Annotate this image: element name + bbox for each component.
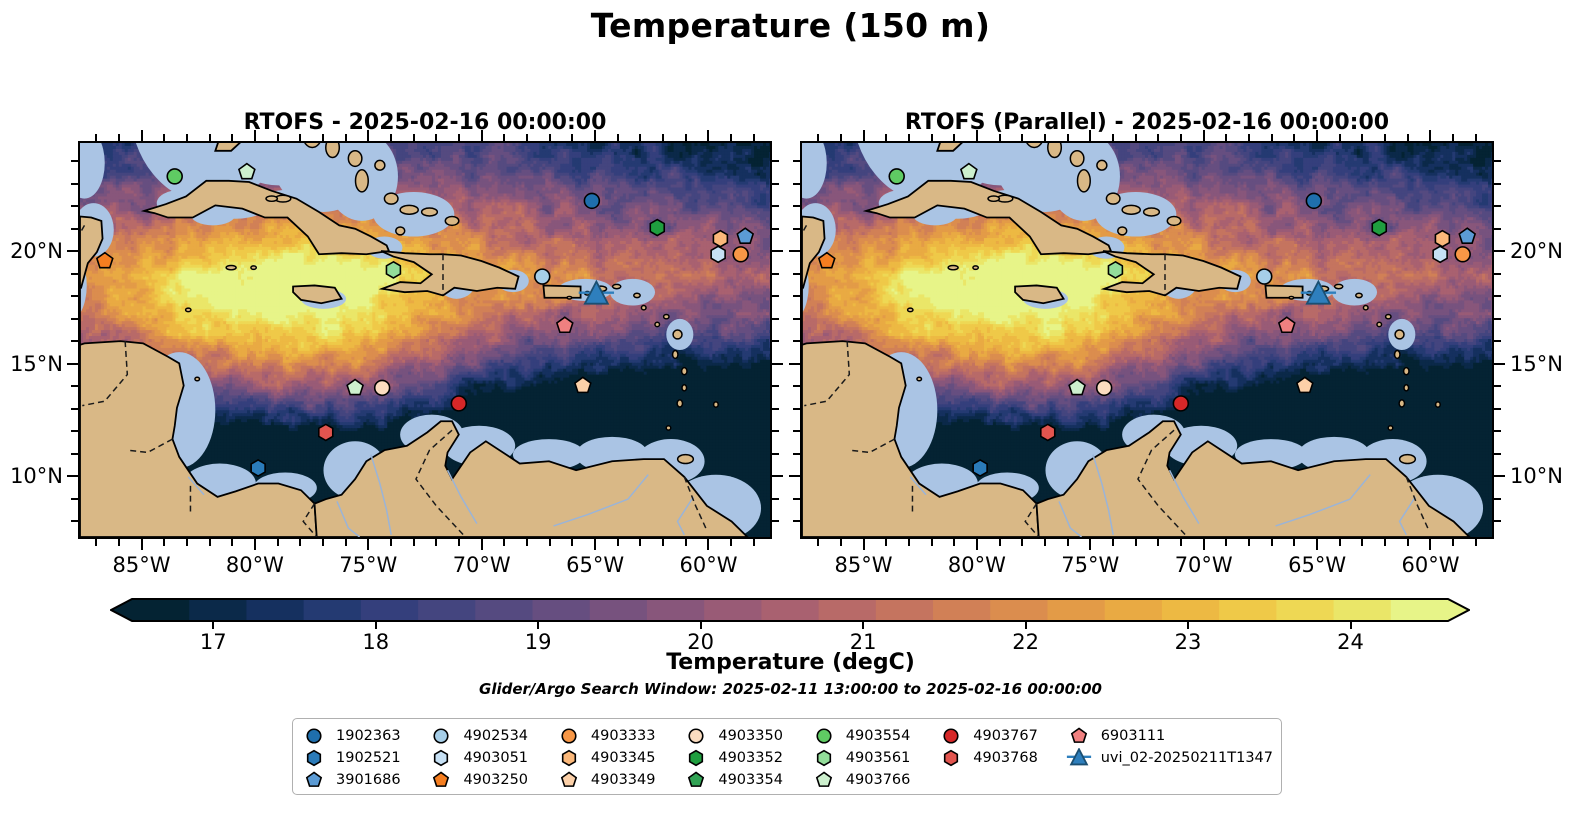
legend-label: 4903766 [846,772,911,788]
legend-label: 4903250 [463,772,528,788]
x-tick-top [908,134,910,141]
x-tick-top [1271,134,1273,141]
y-tick-left [71,520,78,522]
marker-circle[interactable] [1455,247,1470,262]
marker-hexagon[interactable] [1433,246,1447,262]
marker-hexagon[interactable] [713,231,727,247]
legend-item[interactable]: 4903561 [811,747,936,769]
legend-item[interactable]: 6903111 [1066,725,1273,747]
legend-marker-pentagon [556,770,582,790]
marker-pentagon[interactable] [1072,728,1086,742]
x-tick [1021,539,1023,546]
x-tick [1248,539,1250,546]
marker-circle[interactable] [817,729,831,743]
y-tick-left [793,273,800,275]
y-tick-left [71,295,78,297]
legend-label: 4903561 [846,750,911,766]
x-tick-top [458,134,460,141]
figure-root: Temperature (150 m) RTOFS - 2025-02-16 0… [0,0,1581,827]
y-tick-label: 20°N [1510,239,1563,263]
x-tick [817,539,819,546]
x-tick [186,539,188,546]
x-tick-top [277,134,279,141]
marker-circle[interactable] [1306,193,1321,208]
marker-circle[interactable] [535,269,550,284]
y-tick-left [793,318,800,320]
y-tick-right [1494,160,1501,162]
legend: 1902363490253449033334903350490355449037… [292,718,1282,795]
y-tick-left [793,183,800,185]
x-tick-top [503,134,505,141]
y-tick-left [793,385,800,387]
x-tick-top [1089,130,1091,141]
x-tick [1225,539,1227,546]
y-tick-left [71,340,78,342]
y-tick-left [793,205,800,207]
search-window-text: Glider/Argo Search Window: 2025-02-11 13… [0,680,1581,698]
legend-label: 4903345 [591,750,656,766]
x-tick-top [1135,134,1137,141]
x-tick [908,539,910,546]
x-tick-label: 65°W [1288,553,1346,577]
x-tick-top [413,134,415,141]
legend-item[interactable]: 4902534 [428,725,553,747]
y-tick-right [772,340,779,342]
y-tick-left [793,408,800,410]
x-tick-top [953,134,955,141]
x-tick [976,539,978,550]
x-tick [730,539,732,546]
x-tick-top [345,134,347,141]
legend-item[interactable]: 4903354 [683,769,808,791]
x-tick [1067,539,1069,546]
legend-item[interactable]: 4903352 [683,747,808,769]
legend-marker-hexagon [428,748,454,768]
x-tick [299,539,301,546]
x-tick [390,539,392,546]
marker-circle[interactable] [945,729,959,743]
y-tick-left [793,453,800,455]
x-tick-top [1044,134,1046,141]
legend-label: 4903554 [846,728,911,744]
marker-hexagon[interactable] [1435,231,1449,247]
y-tick-right [1494,363,1505,365]
y-tick-left [71,408,78,410]
y-tick-left [789,250,800,252]
marker-hexagon[interactable] [711,246,725,262]
x-tick-top [1452,134,1454,141]
marker-pentagon[interactable] [307,772,321,786]
y-tick-right [1494,475,1505,477]
x-tick [163,539,165,546]
y-tick-left [71,453,78,455]
y-tick-right [772,475,783,477]
legend-item[interactable]: 4903350 [683,725,808,747]
x-tick-top [1361,134,1363,141]
x-tick-top [817,134,819,141]
legend-marker-circle [301,726,327,746]
marker-circle[interactable] [562,729,576,743]
y-tick-label: 10°N [0,464,63,488]
x-tick-top [1293,134,1295,141]
marker-circle[interactable] [584,193,599,208]
y-tick-right [772,318,779,320]
x-tick-top [1384,134,1386,141]
y-tick-label: 20°N [0,239,63,263]
x-tick [571,539,573,546]
legend-marker-pentagon [1066,726,1092,746]
x-tick-top [435,134,437,141]
marker-hexagon[interactable] [1108,262,1122,278]
x-tick-top [1180,134,1182,141]
y-tick-right [1494,385,1501,387]
legend-marker-hexagon [938,748,964,768]
x-tick-top [1225,134,1227,141]
legend-item[interactable]: 4903766 [811,769,936,791]
x-tick [141,539,143,550]
y-tick-left [71,183,78,185]
legend-item[interactable]: 1902521 [301,747,426,769]
x-tick-top [1316,130,1318,141]
page-title: Temperature (150 m) [0,6,1581,45]
y-tick-left [71,318,78,320]
x-tick-top [95,134,97,141]
y-tick-left [71,273,78,275]
x-tick [1475,539,1477,546]
x-tick [863,539,865,550]
x-tick [1112,539,1114,546]
x-tick-top [594,130,596,141]
y-tick-left [793,228,800,230]
legend-item[interactable]: 4903333 [556,725,681,747]
y-tick-left [67,363,78,365]
marker-hexagon[interactable] [945,751,958,766]
y-tick-right [772,430,779,432]
y-tick-left [71,205,78,207]
x-tick-top [1157,134,1159,141]
legend-marker-circle [811,726,837,746]
x-tick [840,539,842,546]
y-tick-right [1494,340,1501,342]
x-tick-top [840,134,842,141]
x-tick [526,539,528,546]
x-tick [594,539,596,550]
y-tick-left [71,228,78,230]
legend-item[interactable]: 4903250 [428,769,553,791]
legend-marker-circle [683,726,709,746]
colorbar-tick [700,622,702,629]
x-tick-top [863,130,865,141]
x-tick [639,539,641,546]
y-tick-right [1494,183,1501,185]
y-tick-label: 10°N [1510,464,1563,488]
x-tick [1271,539,1273,546]
x-tick-label: 70°W [1175,553,1233,577]
y-tick-right [772,183,779,185]
legend-label: uvi_02-20250211T1347 [1101,750,1273,766]
marker-pentagon[interactable] [434,772,448,786]
x-tick-top [976,130,978,141]
legend-label: 4903350 [718,728,783,744]
x-tick [481,539,483,550]
x-tick-top [617,134,619,141]
marker-hexagon[interactable] [319,424,333,440]
marker-hexagon[interactable] [563,751,576,766]
x-tick [1407,539,1409,546]
marker-hexagon[interactable] [308,751,321,766]
map-canvas-left [80,143,770,537]
x-tick-top [526,134,528,141]
legend-item[interactable]: 4903349 [556,769,681,791]
panel-title-right: RTOFS (Parallel) - 2025-02-16 00:00:00 [800,110,1494,135]
legend-item[interactable]: 4903554 [811,725,936,747]
y-tick-left [793,160,800,162]
marker-hexagon[interactable] [690,751,703,766]
x-tick-label: 85°W [835,553,893,577]
marker-circle[interactable] [451,396,466,411]
colorbar-label: Temperature (degC) [0,650,1581,675]
x-tick-top [571,134,573,141]
x-tick-top [1339,134,1341,141]
x-tick-top [1203,130,1205,141]
x-tick [549,539,551,546]
legend-marker-circle [556,726,582,746]
marker-hexagon[interactable] [973,460,987,476]
x-tick [1339,539,1341,546]
x-tick-top [141,130,143,141]
y-tick-left [71,498,78,500]
y-tick-right [1494,273,1501,275]
marker-circle[interactable] [733,247,748,262]
legend-label: 4903354 [718,772,783,788]
y-tick-right [772,273,779,275]
legend-marker-pentagon [301,770,327,790]
y-tick-right [1494,498,1501,500]
x-tick-label: 85°W [113,553,171,577]
legend-item[interactable]: uvi_02-20250211T1347 [1066,747,1273,769]
marker-hexagon[interactable] [386,262,400,278]
x-tick-top [481,130,483,141]
legend-marker-pentagon [683,770,709,790]
y-tick-right [1494,453,1501,455]
x-tick-label: 60°W [1401,553,1459,577]
x-tick [1157,539,1159,546]
y-tick-right [1494,430,1501,432]
x-tick [1180,539,1182,546]
marker-hexagon[interactable] [1041,424,1055,440]
x-tick [345,539,347,546]
marker-hexagon[interactable] [251,460,265,476]
x-tick-top [322,134,324,141]
legend-grid: 1902363490253449033334903350490355449037… [301,725,1273,791]
x-tick-top [999,134,1001,141]
x-tick [953,539,955,546]
y-tick-left [71,385,78,387]
x-tick [999,539,1001,546]
x-tick-top [1021,134,1023,141]
legend-marker-hexagon [301,748,327,768]
legend-label: 4903051 [463,750,528,766]
colorbar-tick [862,622,864,629]
y-tick-left [793,430,800,432]
legend-label: 1902521 [336,750,401,766]
marker-pentagon[interactable] [562,772,576,786]
y-tick-left [67,475,78,477]
x-tick-top [118,134,120,141]
y-tick-left [793,498,800,500]
x-tick-top [1067,134,1069,141]
marker-circle[interactable] [167,169,182,184]
marker-circle[interactable] [375,380,390,395]
y-tick-left [67,250,78,252]
colorbar-tick [1350,622,1352,629]
legend-item[interactable]: 1902363 [301,725,426,747]
x-tick [1135,539,1137,546]
y-tick-left [793,295,800,297]
y-tick-right [772,250,783,252]
x-tick-top [1407,134,1409,141]
marker-hexagon[interactable] [1372,220,1386,236]
x-tick-top [231,134,233,141]
legend-label: 4903767 [973,728,1038,744]
x-tick-top [254,130,256,141]
y-tick-left [71,160,78,162]
x-tick-label: 80°W [948,553,1006,577]
map-panel-rtofs-parallel[interactable] [800,141,1494,539]
marker-hexagon[interactable] [650,220,664,236]
y-tick-right [772,363,783,365]
legend-item[interactable]: 4903767 [938,725,1063,747]
x-tick-top [753,134,755,141]
x-tick-top [549,134,551,141]
y-tick-right [1494,205,1501,207]
y-tick-left [793,340,800,342]
x-tick [458,539,460,546]
marker-pentagon[interactable] [817,772,831,786]
y-tick-right [1494,408,1501,410]
x-tick-label: 60°W [679,553,737,577]
x-tick [1361,539,1363,546]
legend-marker-hexagon [683,748,709,768]
x-tick-top [1429,130,1431,141]
y-tick-right [772,160,779,162]
legend-marker-circle [428,726,454,746]
x-tick [367,539,369,550]
x-tick [118,539,120,546]
x-tick-top [1475,134,1477,141]
y-tick-right [772,205,779,207]
x-tick [322,539,324,546]
colorbar-tick [1025,622,1027,629]
marker-circle[interactable] [435,729,449,743]
x-tick [617,539,619,546]
y-tick-right [772,228,779,230]
x-tick-top [685,134,687,141]
x-tick [435,539,437,546]
x-tick [209,539,211,546]
map-field-right [802,143,1492,537]
marker-circle[interactable] [690,729,704,743]
x-tick [503,539,505,546]
legend-label: 4903349 [591,772,656,788]
legend-item[interactable]: 3901686 [301,769,426,791]
map-canvas-right [802,143,1492,537]
x-tick-label: 80°W [226,553,284,577]
legend-item[interactable]: 4903768 [938,747,1063,769]
x-tick [1429,539,1431,550]
x-tick-top [1248,134,1250,141]
x-tick-top [707,130,709,141]
map-panel-rtofs[interactable] [78,141,772,539]
colorbar [110,598,1470,622]
x-tick-top [299,134,301,141]
marker-circle[interactable] [1097,380,1112,395]
y-tick-right [1494,228,1501,230]
marker-circle[interactable] [307,729,321,743]
x-tick [1384,539,1386,546]
x-tick [231,539,233,546]
x-tick [95,539,97,546]
legend-label: 6903111 [1101,728,1166,744]
x-tick [277,539,279,546]
x-tick-label: 70°W [453,553,511,577]
x-tick-label: 75°W [339,553,397,577]
x-tick [413,539,415,546]
panel-title-left: RTOFS - 2025-02-16 00:00:00 [78,110,772,135]
y-tick-right [772,520,779,522]
marker-hexagon[interactable] [817,751,830,766]
x-tick-top [730,134,732,141]
y-tick-left [71,430,78,432]
colorbar-tick [1187,622,1189,629]
legend-item[interactable]: 4903345 [556,747,681,769]
x-tick [1044,539,1046,546]
marker-glider-triangle[interactable] [1067,749,1091,764]
colorbar-tick [537,622,539,629]
y-tick-right [1494,250,1505,252]
legend-label: 4903352 [718,750,783,766]
x-tick-label: 75°W [1061,553,1119,577]
x-tick-top [367,130,369,141]
y-tick-right [772,498,779,500]
marker-circle[interactable] [1173,396,1188,411]
legend-marker-pentagon [428,770,454,790]
x-tick-top [390,134,392,141]
y-tick-right [1494,295,1501,297]
x-tick [753,539,755,546]
legend-marker-glider-triangle [1066,748,1092,768]
legend-marker-pentagon [811,770,837,790]
marker-hexagon[interactable] [435,751,448,766]
x-tick [707,539,709,550]
legend-label: 1902363 [336,728,401,744]
y-tick-left [789,475,800,477]
x-tick-top [639,134,641,141]
x-tick-top [885,134,887,141]
legend-item[interactable]: 4903051 [428,747,553,769]
x-tick-top [209,134,211,141]
x-tick [1203,539,1205,550]
marker-circle[interactable] [1257,269,1272,284]
x-tick [931,539,933,546]
y-tick-left [793,520,800,522]
legend-marker-hexagon [811,748,837,768]
legend-marker-circle [938,726,964,746]
marker-pentagon[interactable] [689,772,703,786]
x-tick [1452,539,1454,546]
marker-circle[interactable] [889,169,904,184]
map-field-left [80,143,770,537]
